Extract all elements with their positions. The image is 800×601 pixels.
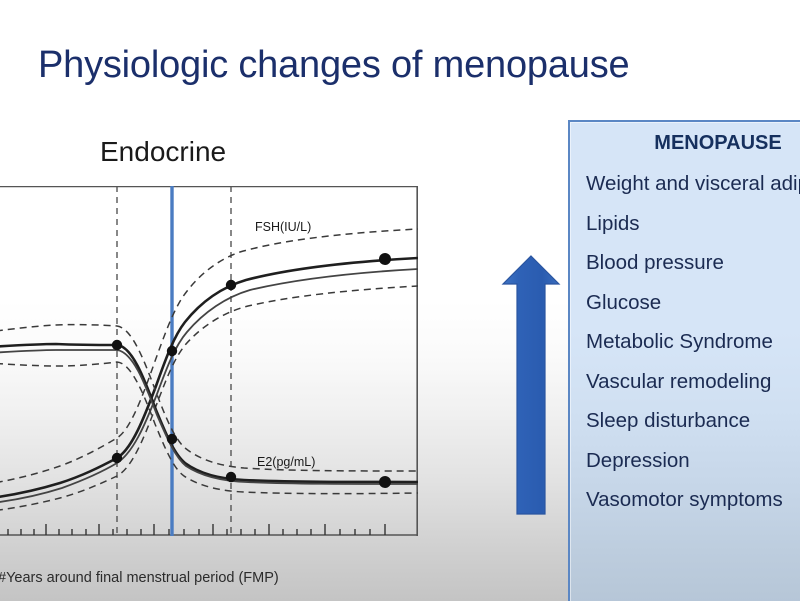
list-item: Vasomotor symptoms — [586, 490, 800, 511]
list-item: Lipids — [586, 214, 800, 235]
fsh-marker-8 — [379, 253, 391, 265]
list-item: Depression — [586, 451, 800, 472]
e2-marker-plus2 — [226, 472, 236, 482]
chart-data-markers — [112, 253, 391, 488]
list-item: Blood pressure — [586, 253, 800, 274]
endocrine-chart: FSH(IU/L) E2(pg/mL) — [0, 186, 418, 536]
list-item: Metabolic Syndrome — [586, 332, 800, 353]
e2-curve — [0, 344, 418, 484]
e2-marker-minus2 — [112, 340, 122, 350]
x-axis-title: #Years around final menstrual period (FM… — [0, 570, 279, 586]
e2-marker-8 — [379, 476, 391, 488]
fsh-series-label: FSH(IU/L) — [255, 220, 311, 234]
list-item: Weight and visceral adiposity — [586, 174, 800, 195]
page-title: Physiologic changes of menopause — [38, 44, 738, 87]
panel-heading: MENOPAUSE — [586, 132, 800, 155]
fsh-marker-fmp — [167, 346, 177, 356]
chart-svg: FSH(IU/L) E2(pg/mL) — [0, 186, 418, 536]
fsh-marker-plus2 — [226, 280, 236, 290]
e2-series-label: E2(pg/mL) — [257, 455, 315, 469]
menopause-panel: MENOPAUSE Weight and visceral adiposity … — [568, 120, 800, 601]
fsh-marker-minus2 — [112, 453, 122, 463]
chart-heading: Endocrine — [100, 136, 226, 168]
x-axis-ticks — [0, 524, 385, 535]
endocrine-chart-block: Endocrine — [0, 136, 422, 601]
fsh-curve — [0, 258, 418, 505]
list-item: Vascular remodeling — [586, 372, 800, 393]
increase-arrow — [500, 252, 562, 518]
up-arrow-icon — [500, 252, 562, 518]
list-item: Sleep disturbance — [586, 411, 800, 432]
list-item: Glucose — [586, 293, 800, 314]
e2-marker-fmp — [167, 434, 177, 444]
